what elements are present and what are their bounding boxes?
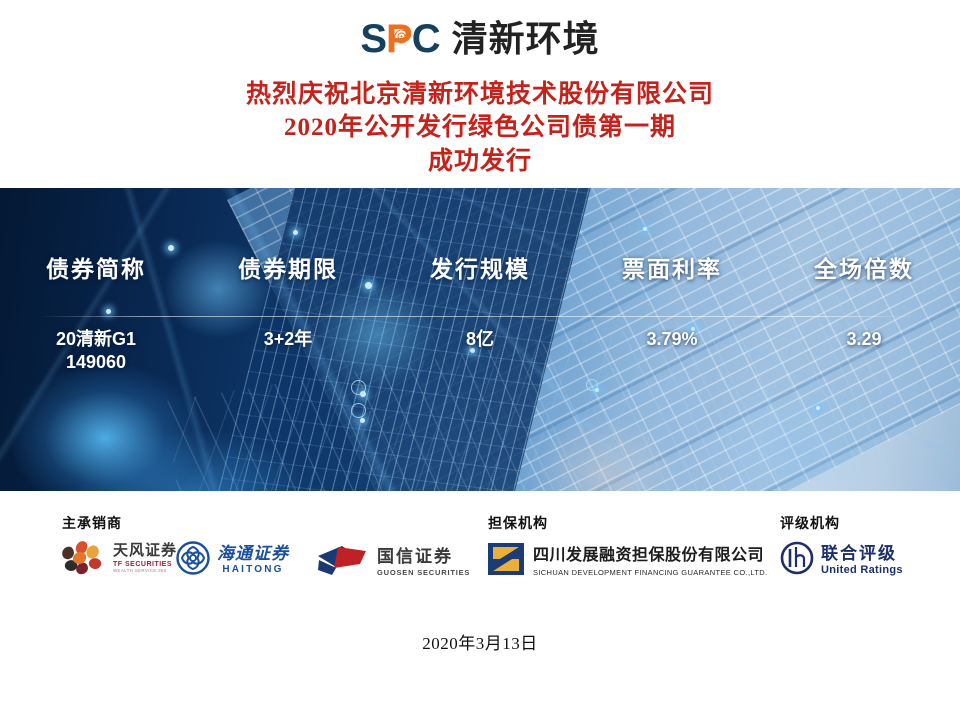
haitong-name-en: HAITONG [217, 564, 289, 575]
united-ratings-name-cn: 联合评级 [821, 544, 903, 564]
tf-securities-tagline: WEALTH SERVICE 360 [113, 569, 177, 574]
brand-name-chinese: 清新环境 [452, 21, 600, 57]
footer-section: 主承销商 担保机构 评级机构 天风证券 TF SECURITIES WEALTH… [0, 491, 960, 701]
sichuan-development-wordmark: 四川发展融资担保股份有限公司 SICHUAN DEVELOPMENT FINAN… [533, 546, 767, 577]
guosen-name-en: GUOSEN SECURITIES [377, 569, 470, 578]
section-label-guarantor: 担保机构 [488, 513, 548, 533]
bond-column-header: 全场倍数 [768, 250, 960, 284]
haitong-name-cn: 海通证券 [217, 545, 289, 564]
bond-column-header: 债券简称 [0, 250, 192, 284]
value-bond-term: 3+2年 [264, 329, 313, 349]
bond-column-value: 20清新G1 149060 [0, 328, 192, 374]
bond-column-header: 发行规模 [384, 250, 576, 284]
sichuan-development-name-cn: 四川发展融资担保股份有限公司 [533, 546, 767, 565]
sichuan-development-name-en: SICHUAN DEVELOPMENT FINANCING GUARANTEE … [533, 568, 767, 577]
bond-column-value: 3.79% [576, 328, 768, 374]
guosen-chevron-icon [316, 543, 370, 582]
logo-tf-securities: 天风证券 TF SECURITIES WEALTH SERVICE 360 [62, 541, 177, 577]
united-ratings-circle-icon [780, 541, 814, 580]
issue-date: 2020年3月13日 [0, 629, 960, 654]
logo-letter-p: P [386, 19, 412, 59]
value-coupon-rate: 3.79% [646, 329, 697, 349]
haitong-knot-icon [176, 541, 210, 580]
section-label-rating-agency: 评级机构 [780, 513, 840, 533]
logo-guosen-securities: 国信证券 GUOSEN SECURITIES [316, 543, 470, 582]
title-line-1: 热烈庆祝北京清新环境技术股份有限公司 [0, 78, 960, 111]
logo-united-ratings: 联合评级 United Ratings [780, 541, 903, 580]
title-line-3: 成功发行 [0, 145, 960, 178]
tf-securities-name-cn: 天风证券 [113, 543, 177, 559]
page-title: 热烈庆祝北京清新环境技术股份有限公司 2020年公开发行绿色公司债第一期 成功发… [0, 78, 960, 188]
united-ratings-name-en: United Ratings [821, 564, 903, 577]
spc-logo-mark: S P C [360, 19, 439, 59]
bond-column-header: 票面利率 [576, 250, 768, 284]
brand-logo-row: S P C 清新环境 [0, 0, 960, 78]
bond-table-header-row: 债券简称 债券期限 发行规模 票面利率 全场倍数 [0, 250, 960, 284]
bond-column-value: 3+2年 [192, 328, 384, 374]
tf-securities-wordmark: 天风证券 TF SECURITIES WEALTH SERVICE 360 [113, 543, 177, 574]
header-subscription-multiple: 全场倍数 [814, 256, 914, 282]
value-issue-size: 8亿 [466, 329, 494, 349]
tf-securities-flower-icon [62, 541, 106, 577]
haitong-wordmark: 海通证券 HAITONG [217, 545, 289, 575]
bond-column-value: 8亿 [384, 328, 576, 374]
table-divider [40, 316, 920, 317]
section-label-underwriters: 主承销商 [62, 513, 122, 533]
bond-table-value-row: 20清新G1 149060 3+2年 8亿 3.79% 3.29 [0, 328, 960, 374]
header-issue-size: 发行规模 [430, 256, 530, 282]
sichuan-development-emblem-icon [488, 541, 526, 582]
logo-sichuan-development-guarantee: 四川发展融资担保股份有限公司 SICHUAN DEVELOPMENT FINAN… [488, 541, 767, 582]
header-coupon-rate: 票面利率 [622, 256, 722, 282]
tf-securities-name-en: TF SECURITIES [113, 561, 177, 568]
bond-column-header: 债券期限 [192, 250, 384, 284]
header-bond-term: 债券期限 [238, 256, 338, 282]
guosen-name-cn: 国信证券 [377, 547, 470, 567]
logo-haitong-securities: 海通证券 HAITONG [176, 541, 289, 580]
value-subscription-multiple: 3.29 [846, 329, 881, 349]
hero-banner: 债券简称 债券期限 发行规模 票面利率 全场倍数 20清新G1 149060 3… [0, 188, 960, 491]
logo-letter-s: S [360, 19, 386, 59]
logo-letter-c: C [412, 19, 440, 59]
guosen-wordmark: 国信证券 GUOSEN SECURITIES [377, 547, 470, 577]
value-bond-short-name: 20清新G1 149060 [56, 329, 136, 372]
header-bond-short-name: 债券简称 [46, 256, 146, 282]
united-ratings-wordmark: 联合评级 United Ratings [821, 544, 903, 577]
bond-column-value: 3.29 [768, 328, 960, 374]
title-line-2: 2020年公开发行绿色公司债第一期 [0, 111, 960, 144]
